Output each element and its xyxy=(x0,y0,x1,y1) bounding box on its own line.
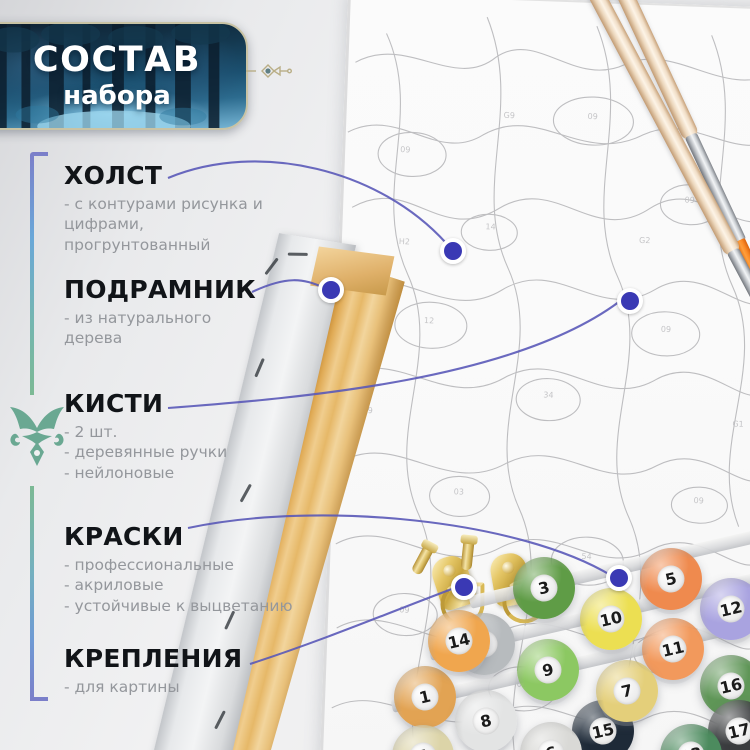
spec-stretcher-title: ПОДРАМНИК xyxy=(64,277,256,303)
banner-title: СОСТАВ xyxy=(0,40,246,80)
spec-stretcher: ПОДРАМНИК - из натуральногодерева xyxy=(64,277,256,349)
bracket-bottom xyxy=(30,486,48,701)
paint-pot-7: 7 xyxy=(596,660,658,722)
spec-canvas-lines: - с контурами рисунка и цифрами,прогрунт… xyxy=(64,194,324,254)
paint-pot-12: 12 xyxy=(700,578,750,640)
bracket-top xyxy=(30,152,48,395)
spec-mounts: КРЕПЛЕНИЯ - для картины xyxy=(64,646,242,697)
callout-dot-canvas xyxy=(440,238,466,264)
callout-dot-brushes xyxy=(617,288,643,314)
paint-pot-10: 10 xyxy=(580,588,642,650)
spec-stretcher-lines: - из натуральногодерева xyxy=(64,308,256,348)
paint-pot-11: 11 xyxy=(642,618,704,680)
spec-canvas-title: ХОЛСТ xyxy=(64,163,324,189)
spec-paints-title: КРАСКИ xyxy=(64,524,293,550)
callout-dot-paints xyxy=(606,565,632,591)
paint-pot-5: 5 xyxy=(640,548,702,610)
banner-finial-ornament xyxy=(246,58,292,84)
header-banner: СОСТАВ набора xyxy=(0,22,248,130)
spec-brushes: КИСТИ - 2 шт.- деревянные ручки- нейлоно… xyxy=(64,391,227,483)
spec-paints-lines: - профессиональные- акриловые- устойчивы… xyxy=(64,555,293,615)
banner-subtitle: набора xyxy=(0,81,246,111)
spec-canvas: ХОЛСТ - с контурами рисунка и цифрами,пр… xyxy=(64,163,324,255)
spec-mounts-title: КРЕПЛЕНИЯ xyxy=(64,646,242,672)
spec-mounts-lines: - для картины xyxy=(64,677,242,697)
paint-pot-9: 9 xyxy=(517,639,579,701)
spec-brushes-title: КИСТИ xyxy=(64,391,227,417)
paint-pot-8: 8 xyxy=(455,690,517,750)
paint-pot-3: 3 xyxy=(513,557,575,619)
callout-dot-mounts xyxy=(451,574,477,600)
callout-dot-stretcher xyxy=(318,277,344,303)
brand-emblem-icon xyxy=(6,398,68,470)
spec-brushes-lines: - 2 шт.- деревянные ручки- нейлоновые xyxy=(64,422,227,482)
paint-pot-14: 14 xyxy=(428,610,490,672)
spec-paints: КРАСКИ - профессиональные- акриловые- ус… xyxy=(64,524,293,616)
paint-pot-1: 1 xyxy=(394,666,456,728)
